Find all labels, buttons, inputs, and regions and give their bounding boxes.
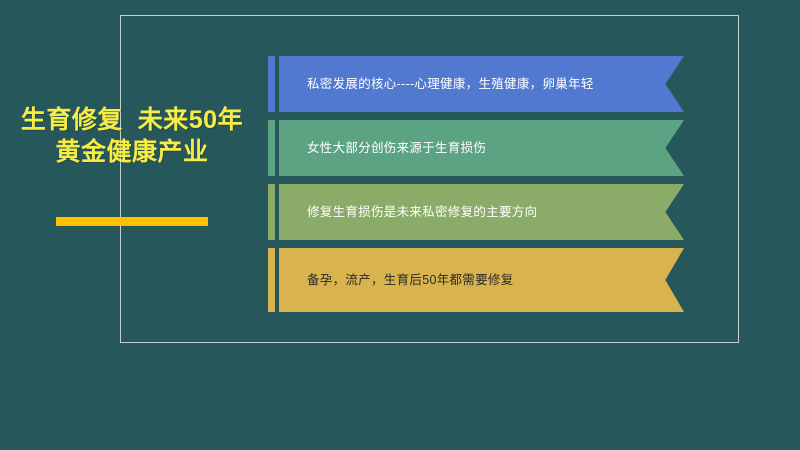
banner-ribbon-shape: 私密发展的核心----心理健康，生殖健康，卵巢年轻: [279, 56, 684, 112]
banner-label: 私密发展的核心----心理健康，生殖健康，卵巢年轻: [279, 76, 594, 93]
title-underline-bar: [56, 217, 208, 226]
banner-label: 修复生育损伤是未来私密修复的主要方向: [279, 204, 537, 221]
banner-list: 私密发展的核心----心理健康，生殖健康，卵巢年轻 女性大部分创伤来源于生育损伤…: [268, 56, 688, 312]
banner-accent-tab: [268, 248, 275, 312]
banner-label: 女性大部分创伤来源于生育损伤: [279, 140, 486, 157]
banner-accent-tab: [268, 120, 275, 176]
banner-ribbon-shape: 女性大部分创伤来源于生育损伤: [279, 120, 684, 176]
banner-item[interactable]: 修复生育损伤是未来私密修复的主要方向: [268, 184, 684, 240]
banner-item[interactable]: 女性大部分创伤来源于生育损伤: [268, 120, 684, 176]
banner-item[interactable]: 私密发展的核心----心理健康，生殖健康，卵巢年轻: [268, 56, 684, 112]
banner-ribbon-shape: 备孕，流产，生育后50年都需要修复: [279, 248, 684, 312]
banner-accent-tab: [268, 56, 275, 112]
page-title: 生育修复 未来50年黄金健康产业: [18, 104, 246, 168]
banner-label: 备孕，流产，生育后50年都需要修复: [279, 272, 514, 289]
banner-accent-tab: [268, 184, 275, 240]
banner-item[interactable]: 备孕，流产，生育后50年都需要修复: [268, 248, 684, 312]
banner-ribbon-shape: 修复生育损伤是未来私密修复的主要方向: [279, 184, 684, 240]
title-block: 生育修复 未来50年黄金健康产业: [18, 104, 246, 168]
slide-canvas: 生育修复 未来50年黄金健康产业 私密发展的核心----心理健康，生殖健康，卵巢…: [0, 0, 800, 450]
